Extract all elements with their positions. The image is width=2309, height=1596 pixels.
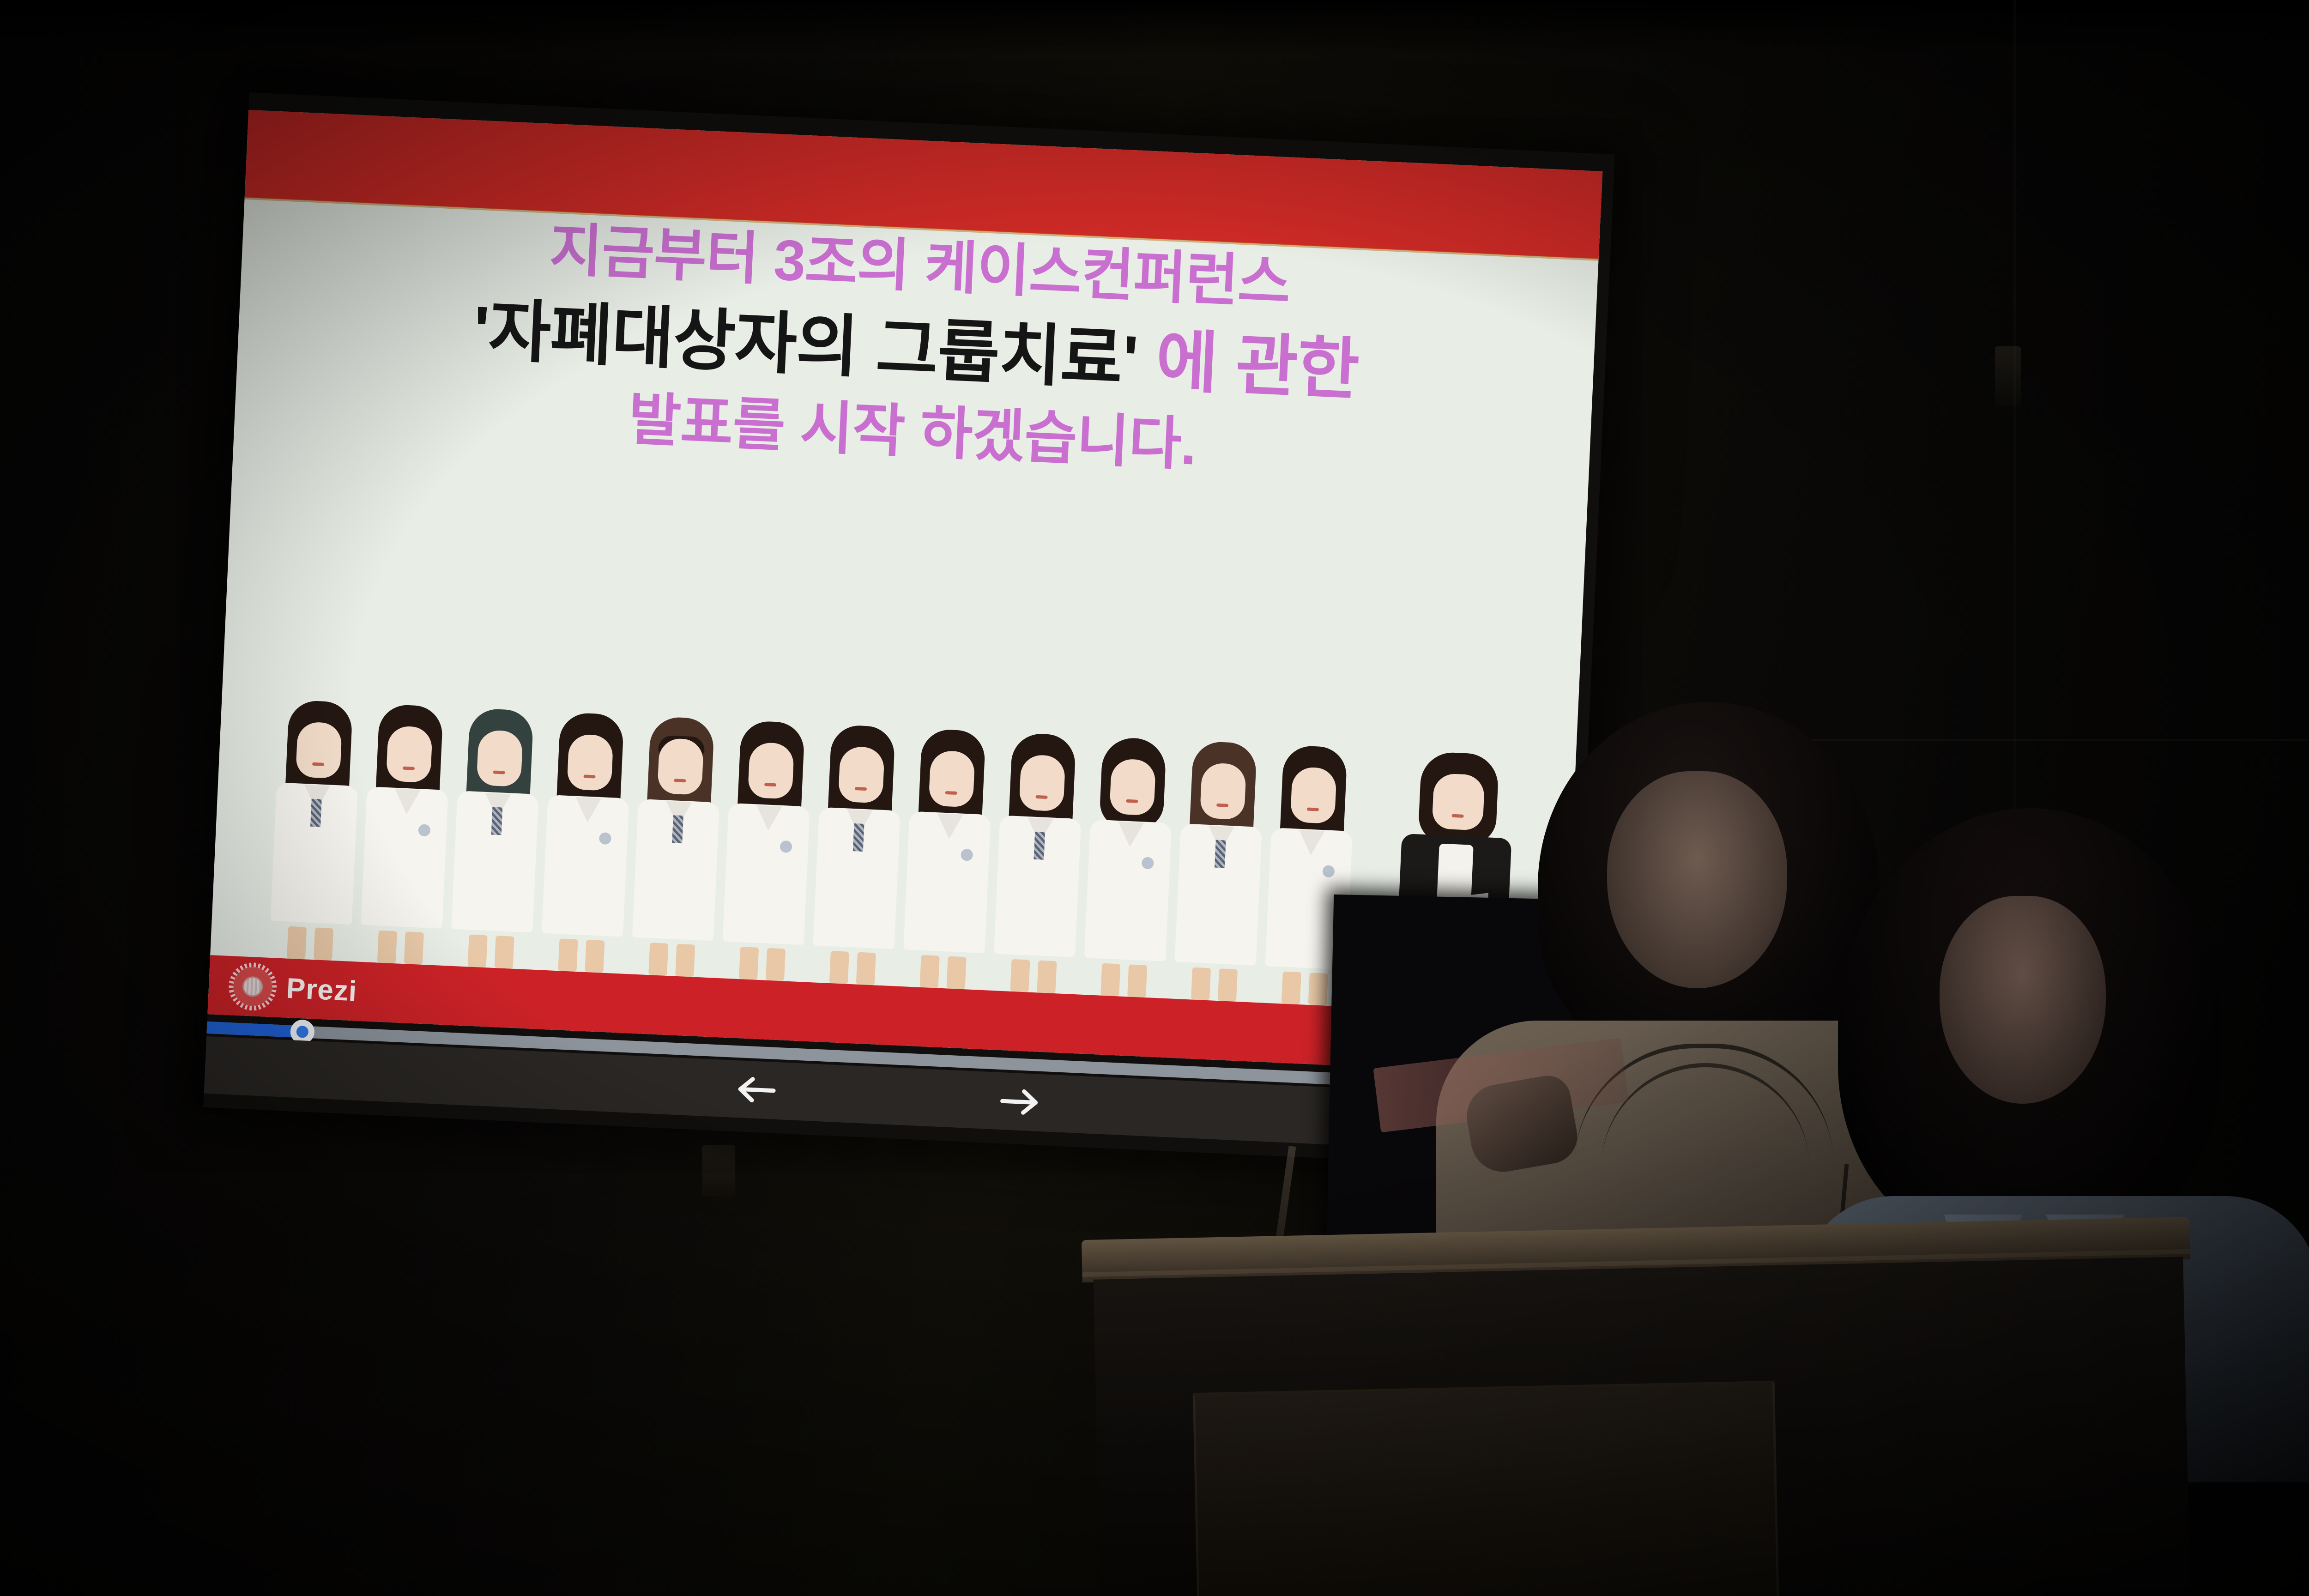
ceiling-shadow [0,0,2309,55]
next-slide-button[interactable] [991,1080,1048,1124]
collage-person [356,703,455,966]
collage-person [627,716,726,978]
collage-person [899,728,998,990]
photo-scene: 지금부터 3조의 케이스컨퍼런스 '자폐대상자의 그룹치료' 에 관한 발표를 … [0,0,2309,1596]
presenter-left-face [1607,771,1787,988]
collage-person [718,720,817,982]
lectern [1082,1217,2197,1596]
presenter-right-face [1940,896,2106,1104]
prezi-wordmark: Prezi [285,972,357,1008]
collage-person [1170,740,1269,1003]
collage-person [1079,736,1179,998]
collage-person [537,712,636,974]
prezi-sunburst-logo-icon[interactable] [232,966,273,1007]
slide-line-2-suffix: 에 관한 [1154,323,1360,408]
collage-person [447,707,546,970]
previous-slide-button[interactable] [728,1068,785,1112]
collage-person [266,699,365,961]
collage-person [808,724,907,986]
arrow-right-icon [993,1084,1046,1119]
arrow-left-icon [731,1073,783,1107]
wall-outlet-icon [702,1145,735,1196]
wall-switch-icon [1995,346,2021,406]
lectern-panel [1193,1381,1780,1596]
lectern-front-face [1094,1257,2190,1596]
slide-line-2-quoted: '자폐대상자의 그룹치료' [471,292,1139,398]
collage-person [989,732,1088,994]
